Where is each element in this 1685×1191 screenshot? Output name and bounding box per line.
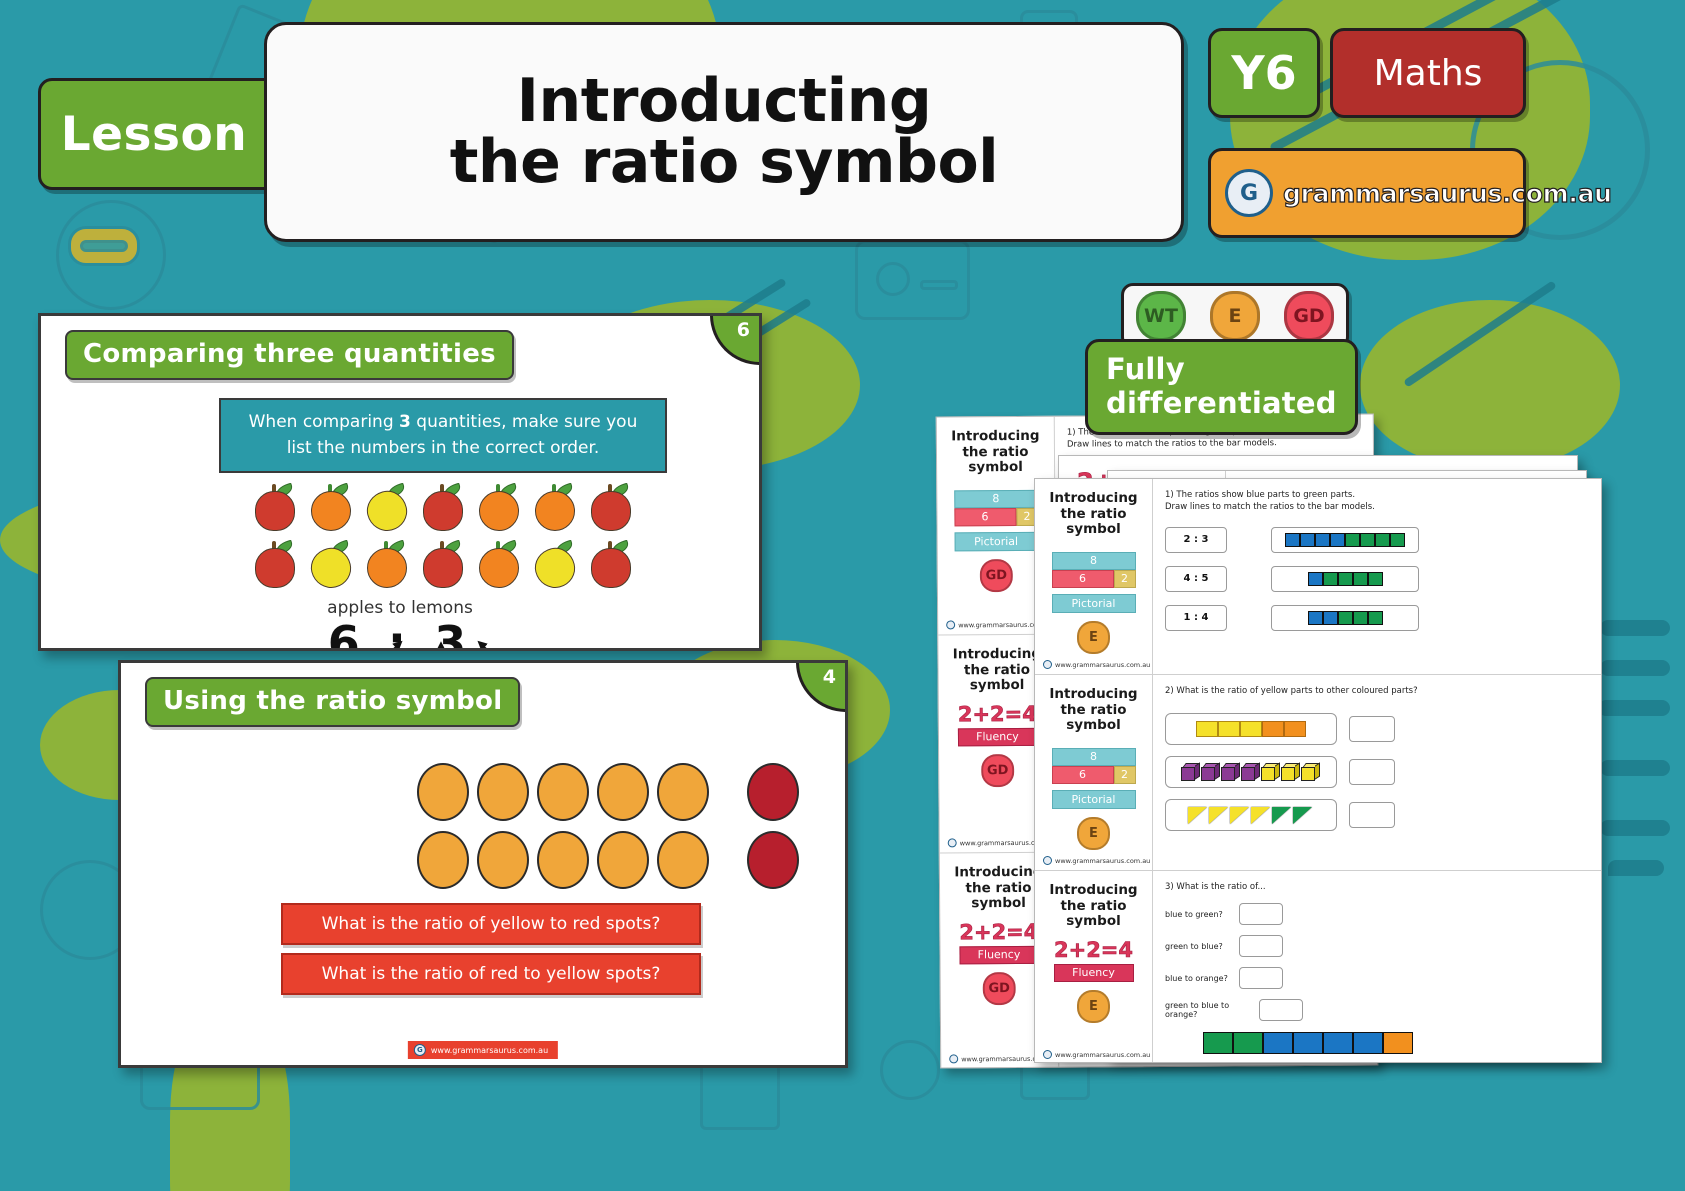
bar-cell: [1293, 1032, 1323, 1054]
radio-slot-icon: [920, 280, 958, 290]
grammarsaurus-logo-icon: [1043, 856, 1052, 865]
square-orange-icon: [1262, 721, 1284, 737]
info-text-pre: When comparing: [249, 412, 399, 432]
apple-icon: [587, 481, 634, 531]
radio-dial-icon: [876, 262, 910, 296]
ratio-label-box[interactable]: 1 : 4: [1165, 605, 1227, 631]
lesson-badge-label: Lesson 3: [61, 107, 298, 162]
question-button-red-to-yellow[interactable]: What is the ratio of red to yellow spots…: [281, 953, 701, 995]
bar-cell: [1263, 1032, 1293, 1054]
bar-model-box[interactable]: [1271, 566, 1419, 592]
fruit-row: [251, 481, 634, 531]
grammarsaurus-logo-icon: G: [1225, 169, 1273, 217]
worksheet-footer: www.grammarsaurus.com.au: [1043, 856, 1150, 865]
orange-icon: [475, 538, 522, 588]
bar-right-value: 2: [1114, 766, 1136, 784]
q3-answer-rows: blue to green?green to blue?blue to oran…: [1165, 903, 1589, 1021]
bar-cell-green: [1338, 572, 1353, 586]
bar-cell: [1233, 1032, 1263, 1054]
cube-purple-icon: [1241, 763, 1260, 782]
bar-cell-blue: [1285, 533, 1300, 547]
worksheet-footer-label: www.grammarsaurus.com.au: [1055, 857, 1150, 865]
e-seal-icon: E: [1210, 291, 1260, 341]
worksheet-footer: www.grammarsaurus.com.au: [1043, 660, 1150, 669]
red-spot-icon: [747, 763, 799, 821]
slide-footer-label: www.grammarsaurus.com.au: [431, 1046, 548, 1055]
worksheet-title: Introducing the ratio symbol: [1043, 491, 1144, 538]
brand-badge[interactable]: G grammarsaurus.com.au: [1208, 148, 1526, 238]
q2-shape-rows: [1165, 713, 1589, 831]
bg-stroke: [1608, 860, 1664, 876]
slide-footer: G www.grammarsaurus.com.au: [408, 1041, 558, 1059]
wt-seal-icon: WT: [1136, 291, 1186, 341]
q1-line1: 1) The ratios show blue parts to green p…: [1165, 489, 1589, 501]
orange-icon: [307, 481, 354, 531]
bar-cell-green: [1353, 572, 1368, 586]
subject-badge: Maths: [1330, 28, 1526, 118]
spot-row: [417, 831, 799, 889]
ratio-label-box[interactable]: 4 : 5: [1165, 566, 1227, 592]
shape-strip: [1165, 799, 1337, 831]
spot-row: [417, 763, 799, 821]
q3-answer-row: blue to orange?: [1165, 967, 1589, 989]
answer-box[interactable]: [1349, 802, 1395, 828]
ratio-arrows-icon: [371, 634, 511, 651]
orange-icon: [475, 481, 522, 531]
bar-cell-blue: [1330, 533, 1345, 547]
yellow-spot-icon: [657, 831, 709, 889]
gd-seal-icon: GD: [983, 972, 1016, 1005]
worksheet-front[interactable]: Introducing the ratio symbol 8 6 2 Picto…: [1034, 478, 1602, 1063]
fluency-tag: Fluency: [1054, 964, 1134, 982]
ratio-label-box[interactable]: 2 : 3: [1165, 527, 1227, 553]
bg-stroke: [1598, 700, 1670, 716]
q2-text: 2) What is the ratio of yellow parts to …: [1165, 685, 1589, 697]
bar-cell-blue: [1315, 533, 1330, 547]
logo-letter: G: [1240, 181, 1258, 206]
q3-answer-box[interactable]: [1239, 903, 1283, 925]
worksheet-title: Introducing the ratio symbol: [945, 429, 1046, 476]
bar-cell-green: [1368, 572, 1383, 586]
bar-cell: [1203, 1032, 1233, 1054]
worksheet-footer-label: www.grammarsaurus.com.au: [1055, 661, 1150, 669]
cube-purple-icon: [1181, 763, 1200, 782]
info-callout: When comparing 3 quantities, make sure y…: [219, 398, 667, 473]
info-text-bold: 3: [399, 412, 411, 432]
fluency-tag: Fluency: [959, 945, 1039, 964]
bar-cell-green: [1368, 611, 1383, 625]
question-button-yellow-to-red[interactable]: What is the ratio of yellow to red spots…: [281, 903, 701, 945]
q3-answer-box[interactable]: [1239, 935, 1283, 957]
grammarsaurus-logo-icon: [948, 838, 957, 847]
fluency-tag: Fluency: [957, 727, 1037, 746]
spot-spacer: [717, 763, 739, 821]
worksheet-q1-line2: Draw lines to match the ratios to the ba…: [1067, 437, 1361, 451]
apple-icon: [251, 538, 298, 588]
yellow-spot-icon: [537, 763, 589, 821]
worksheet-title: Introducing the ratio symbol: [946, 647, 1047, 694]
worksheet-panel-q2: Introducing the ratio symbol 8 6 2 Picto…: [1035, 675, 1601, 871]
bar-top-value: 8: [954, 489, 1038, 508]
e-seal-icon: E: [1077, 990, 1110, 1023]
lemon-icon: [531, 538, 578, 588]
yellow-spot-icon: [417, 831, 469, 889]
fruit-row: [251, 538, 634, 588]
bar-cell-blue: [1308, 611, 1323, 625]
q3-bar-model: [1203, 1032, 1413, 1054]
grammarsaurus-logo-icon: G: [414, 1044, 426, 1056]
bar-cell-green: [1345, 533, 1360, 547]
square-yellow-icon: [1218, 721, 1240, 737]
slide-heading: Using the ratio symbol: [145, 677, 520, 727]
page-title-line1: Introducting: [450, 71, 999, 132]
bar-top-value: 8: [1052, 748, 1136, 766]
bar-cell-blue: [1300, 533, 1315, 547]
bg-stroke: [1600, 620, 1670, 636]
yellow-spot-icon: [477, 763, 529, 821]
triangle-yellow-icon: [1230, 807, 1249, 824]
grammarsaurus-logo-icon: [1043, 660, 1052, 669]
q2-shape-row: [1165, 713, 1589, 745]
bar-top-value: 8: [1052, 552, 1136, 570]
bar-cell-blue: [1308, 572, 1323, 586]
bar-cell: [1323, 1032, 1353, 1054]
triangle-yellow-icon: [1251, 807, 1270, 824]
yellow-spot-icon: [477, 831, 529, 889]
q3-answer-box[interactable]: [1239, 967, 1283, 989]
lemon-icon: [363, 481, 410, 531]
fluency-logo: 2+2=4: [1043, 938, 1144, 962]
bar-model: [1308, 611, 1383, 625]
fruit-ratio-label: apples to lemons: [41, 598, 759, 618]
orange-icon: [363, 538, 410, 588]
title-card: Introducting the ratio symbol: [264, 22, 1184, 242]
apple-icon: [587, 538, 634, 588]
bg-stroke: [1600, 660, 1670, 676]
square-yellow-icon: [1196, 721, 1218, 737]
q1-match-row: 2 : 3: [1165, 527, 1589, 553]
bar-model-mini: 8 6 2: [1052, 552, 1136, 588]
q3-answer-row: green to blue?: [1165, 935, 1589, 957]
bar-cell-green: [1375, 533, 1390, 547]
pictorial-tag: Pictorial: [1052, 790, 1136, 809]
grammarsaurus-logo-icon: [946, 620, 955, 629]
worksheet-panel-q1: Introducing the ratio symbol 8 6 2 Picto…: [1035, 479, 1601, 675]
bar-cell-blue: [1323, 611, 1338, 625]
grammarsaurus-logo-icon: [949, 1054, 958, 1063]
worksheet-footer-label: www.grammarsaurus.com.au: [1055, 1051, 1150, 1059]
yellow-spot-icon: [417, 763, 469, 821]
worksheet-content-q1: 1) The ratios show blue parts to green p…: [1153, 479, 1601, 674]
bar-model: [1285, 533, 1405, 547]
slide-number-badge: 6: [710, 315, 760, 365]
q1-match-row: 4 : 5: [1165, 566, 1589, 592]
red-spot-icon: [747, 831, 799, 889]
gd-seal-icon: GD: [981, 754, 1014, 787]
square-orange-icon: [1284, 721, 1306, 737]
bar-model-mini: 8 6 2: [954, 489, 1038, 526]
q3-label: blue to orange?: [1165, 974, 1231, 983]
worksheet-title: Introducing the ratio symbol: [1043, 687, 1144, 734]
orange-icon: [531, 481, 578, 531]
q1-match-row: 1 : 4: [1165, 605, 1589, 631]
gd-seal-icon: GD: [980, 559, 1013, 592]
triangle-yellow-icon: [1188, 807, 1207, 824]
cube-yellow-icon: [1261, 763, 1280, 782]
gd-seal-icon: GD: [1284, 291, 1334, 341]
cube-purple-icon: [1201, 763, 1220, 782]
apple-icon: [419, 538, 466, 588]
fully-differentiated-label: Fully differentiated: [1085, 339, 1358, 435]
shape-strip: [1165, 713, 1337, 745]
q1-line2: Draw lines to match the ratios to the ba…: [1165, 501, 1589, 513]
bar-cell-green: [1338, 611, 1353, 625]
q2-shape-row: [1165, 799, 1589, 831]
worksheet-footer: www.grammarsaurus.com.au: [1043, 1050, 1150, 1059]
answer-box[interactable]: [1349, 759, 1395, 785]
spot-grid: [417, 763, 799, 899]
page-title-line2: the ratio symbol: [450, 132, 999, 193]
bg-stroke: [1600, 760, 1670, 776]
fluency-logo: 2+2=4: [947, 701, 1048, 726]
worksheet-panel-q3: Introducing the ratio symbol 2+2=4 Fluen…: [1035, 871, 1601, 1063]
fruit-grid: [251, 481, 634, 595]
yellow-spot-icon: [597, 763, 649, 821]
slide-card-comparing-three-quantities[interactable]: 6 Comparing three quantities When compar…: [38, 313, 762, 651]
answer-box[interactable]: [1349, 716, 1395, 742]
triangle-green-icon: [1272, 807, 1291, 824]
cube-purple-icon: [1221, 763, 1240, 782]
worksheet-content-q3: 3) What is the ratio of... blue to green…: [1153, 871, 1601, 1063]
slide-number-badge: 4: [796, 662, 846, 712]
bar-left-value: 6: [1052, 766, 1114, 784]
bg-stroke: [1600, 820, 1670, 836]
e-seal-icon: E: [1077, 621, 1110, 654]
q3-label: green to blue?: [1165, 942, 1231, 951]
yellow-spot-icon: [537, 831, 589, 889]
apple-icon: [251, 481, 298, 531]
bar-cell-green: [1390, 533, 1405, 547]
e-seal-icon: E: [1077, 817, 1110, 850]
yellow-spot-icon: [597, 831, 649, 889]
year-badge-label: Y6: [1231, 46, 1296, 100]
clock-icon: [880, 1040, 940, 1100]
year-badge: Y6: [1208, 28, 1320, 118]
pictorial-tag: Pictorial: [1052, 594, 1136, 613]
subject-badge-label: Maths: [1374, 53, 1483, 94]
bar-cell: [1353, 1032, 1383, 1054]
q3-answer-row: blue to green?: [1165, 903, 1589, 925]
triangle-yellow-icon: [1209, 807, 1228, 824]
medal-bar-icon: [80, 240, 128, 252]
q2-shape-row: [1165, 756, 1589, 788]
bar-cell-green: [1360, 533, 1375, 547]
pictorial-tag: Pictorial: [954, 531, 1038, 551]
bar-model-box[interactable]: [1271, 527, 1419, 553]
worksheet-sidebar: Introducing the ratio symbol 8 6 2 Picto…: [1035, 675, 1153, 870]
lemon-icon: [307, 538, 354, 588]
bar-right-value: 2: [1114, 570, 1136, 588]
apple-icon: [419, 481, 466, 531]
square-yellow-icon: [1240, 721, 1262, 737]
yellow-spot-icon: [657, 763, 709, 821]
shape-strip: [1165, 756, 1337, 788]
q1-match-rows: 2 : 34 : 51 : 4: [1165, 527, 1589, 631]
q3-label: blue to green?: [1165, 910, 1231, 919]
grammarsaurus-logo-icon: [1043, 1050, 1052, 1059]
worksheet-sidebar: Introducing the ratio symbol 8 6 2 Picto…: [1035, 479, 1153, 674]
q3-text: 3) What is the ratio of...: [1165, 881, 1589, 893]
box-icon: [700, 1060, 780, 1130]
page-title: Introducting the ratio symbol: [450, 71, 999, 193]
bar-model-mini: 8 6 2: [1052, 748, 1136, 784]
worksheet-content-q2: 2) What is the ratio of yellow parts to …: [1153, 675, 1601, 870]
q3-answer-row: green to blue to orange?: [1165, 999, 1589, 1021]
bar-cell-green: [1323, 572, 1338, 586]
cube-yellow-icon: [1281, 763, 1300, 782]
bar-left-value: 6: [954, 508, 1016, 526]
triangle-green-icon: [1293, 807, 1312, 824]
bar-cell-green: [1353, 611, 1368, 625]
bar-model-box[interactable]: [1271, 605, 1419, 631]
worksheet-sidebar: Introducing the ratio symbol 2+2=4 Fluen…: [1035, 871, 1153, 1063]
q3-answer-box[interactable]: [1259, 999, 1303, 1021]
bar-left-value: 6: [1052, 570, 1114, 588]
q3-label: green to blue to orange?: [1165, 1001, 1251, 1019]
slide-card-using-the-ratio-symbol[interactable]: 4 Using the ratio symbol What is the rat…: [118, 660, 848, 1068]
worksheet-title: Introducing the ratio symbol: [1043, 883, 1144, 930]
slide-heading: Comparing three quantities: [65, 330, 514, 380]
spot-spacer: [717, 831, 739, 889]
cube-yellow-icon: [1301, 763, 1320, 782]
brand-url-label: grammarsaurus.com.au: [1283, 179, 1612, 208]
bar-model: [1308, 572, 1383, 586]
bar-cell: [1383, 1032, 1413, 1054]
